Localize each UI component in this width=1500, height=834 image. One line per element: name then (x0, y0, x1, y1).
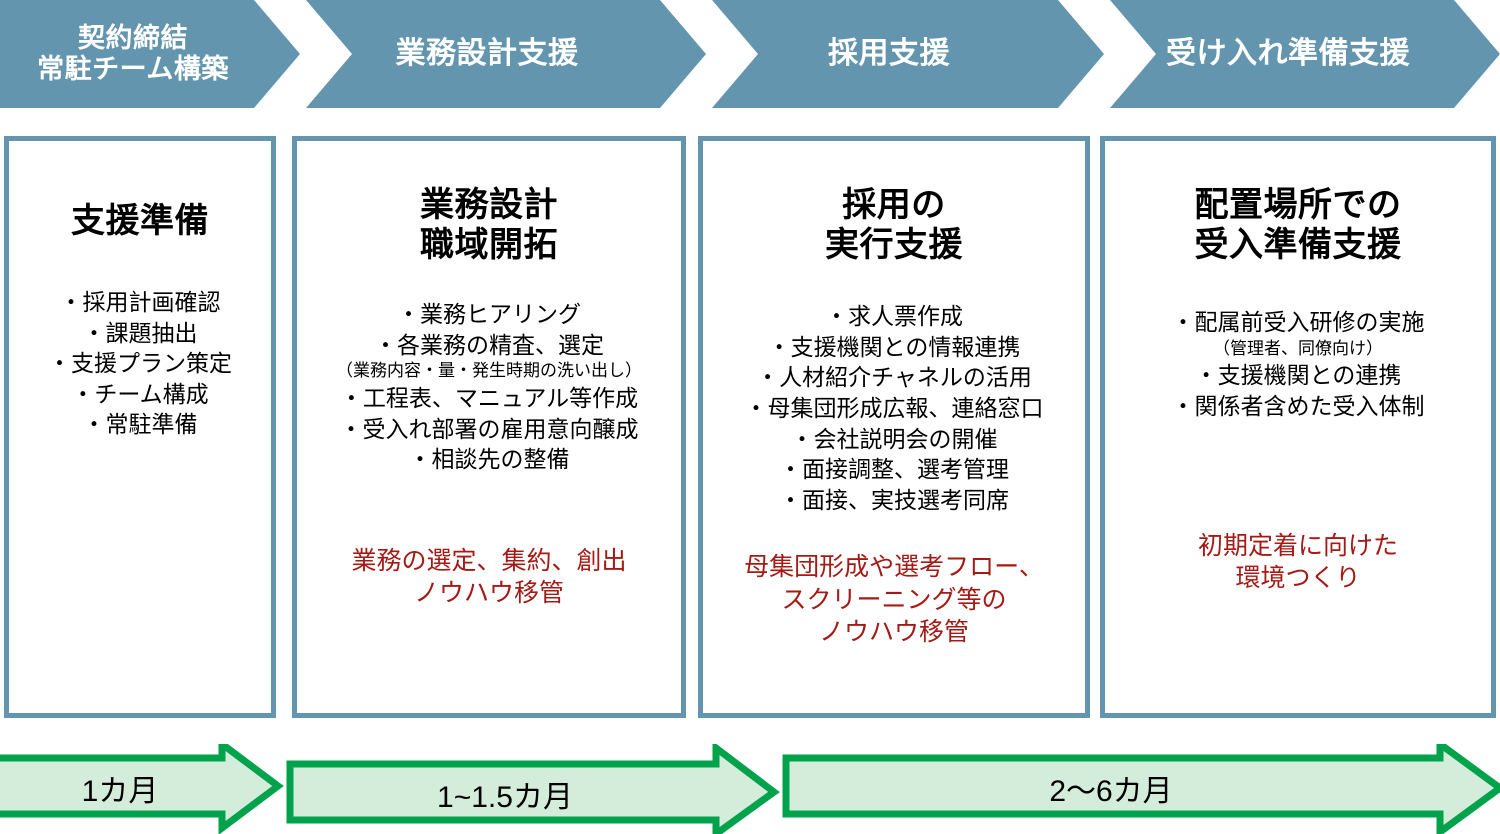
phase-chevron-2-label: 業務設計支援 (396, 37, 579, 72)
bullet-item: ・相談先の整備 (336, 444, 642, 475)
bullet-item: ・人材紹介チャネルの活用 (745, 362, 1044, 393)
bullet-item: ・支援機関との連携 (1172, 360, 1425, 391)
phase-chevron-3-label: 採用支援 (828, 37, 950, 72)
bullet-item: ・業務ヒアリング (336, 299, 642, 330)
phase-card-1-title: 支援準備 (71, 201, 209, 241)
bullet-item: ・支援プラン策定 (48, 348, 232, 379)
phase-card-3-title: 採用の 実行支援 (825, 185, 963, 265)
phase-card-1-bullets: ・採用計画確認 ・課題抽出 ・支援プラン策定 ・チーム構成 ・常駐準備 (48, 287, 232, 440)
bullet-item: ・常駐準備 (48, 409, 232, 440)
phase-card-3-outcome-note: 母集団形成や選考フロー、 スクリーニング等の ノウハウ移管 (703, 551, 1085, 649)
bullet-item: ・面接調整、選考管理 (745, 454, 1044, 485)
phase-card-4-title: 配置場所での 受入準備支援 (1195, 185, 1402, 265)
bullet-item: ・受入れ部署の雇用意向醸成 (336, 414, 642, 445)
phase-card-2-bullets: ・業務ヒアリング ・各業務の精査、選定 （業務内容・量・発生時期の洗い出し） ・… (336, 299, 642, 475)
bullet-item: ・課題抽出 (48, 318, 232, 349)
bullet-item: ・工程表、マニュアル等作成 (336, 383, 642, 414)
phase-chevron-2[interactable]: 業務設計支援 (306, 0, 706, 108)
duration-arrow-3-label: 2〜6カ月 (786, 766, 1436, 810)
bullet-item: ・採用計画確認 (48, 287, 232, 318)
bullet-item: ・支援機関との情報連携 (745, 332, 1044, 363)
phase-chevron-1-label: 契約締結 常駐チーム構築 (37, 23, 229, 85)
bullet-item: ・各業務の精査、選定 (336, 330, 642, 361)
bullet-item: ・求人票作成 (745, 301, 1044, 332)
bullet-item: ・面接、実技選考同席 (745, 485, 1044, 516)
duration-timeline: 1カ月 1~1.5カ月 2〜6カ月 (0, 744, 1500, 834)
phase-card-2-title: 業務設計 職域開拓 (420, 185, 558, 265)
phase-card-3[interactable]: 採用の 実行支援 ・求人票作成 ・支援機関との情報連携 ・人材紹介チャネルの活用… (698, 136, 1090, 718)
phase-card-4-outcome-note: 初期定着に向けた 環境つくり (1105, 530, 1491, 595)
phase-card-2-outcome-note: 業務の選定、集約、創出 ノウハウ移管 (297, 545, 681, 610)
phase-header-band: 契約締結 常駐チーム構築 業務設計支援 採用支援 受け入れ準備支援 (0, 0, 1500, 108)
phase-card-3-bullets: ・求人票作成 ・支援機関との情報連携 ・人材紹介チャネルの活用 ・母集団形成広報… (745, 301, 1044, 515)
bullet-item: ・会社説明会の開催 (745, 424, 1044, 455)
phase-chevron-3[interactable]: 採用支援 (712, 0, 1104, 108)
phase-chevron-1[interactable]: 契約締結 常駐チーム構築 (0, 0, 300, 108)
duration-arrow-2-label: 1~1.5カ月 (290, 772, 720, 816)
bullet-item-note: （管理者、同僚向け） (1172, 338, 1425, 361)
phase-card-2[interactable]: 業務設計 職域開拓 ・業務ヒアリング ・各業務の精査、選定 （業務内容・量・発生… (292, 136, 686, 718)
phase-card-1[interactable]: 支援準備 ・採用計画確認 ・課題抽出 ・支援プラン策定 ・チーム構成 ・常駐準備 (4, 136, 276, 718)
duration-arrow-1-label: 1カ月 (0, 766, 240, 810)
bullet-item: ・関係者含めた受入体制 (1172, 391, 1425, 422)
phase-card-4[interactable]: 配置場所での 受入準備支援 ・配属前受入研修の実施 （管理者、同僚向け） ・支援… (1100, 136, 1496, 718)
bullet-item-note: （業務内容・量・発生時期の洗い出し） (336, 360, 642, 383)
phase-chevron-4[interactable]: 受け入れ準備支援 (1110, 0, 1500, 108)
phase-chevron-4-label: 受け入れ準備支援 (1166, 37, 1410, 72)
bullet-item: ・母集団形成広報、連絡窓口 (745, 393, 1044, 424)
bullet-item: ・チーム構成 (48, 379, 232, 410)
bullet-item: ・配属前受入研修の実施 (1172, 307, 1425, 338)
phase-card-4-bullets: ・配属前受入研修の実施 （管理者、同僚向け） ・支援機関との連携 ・関係者含めた… (1172, 307, 1425, 421)
